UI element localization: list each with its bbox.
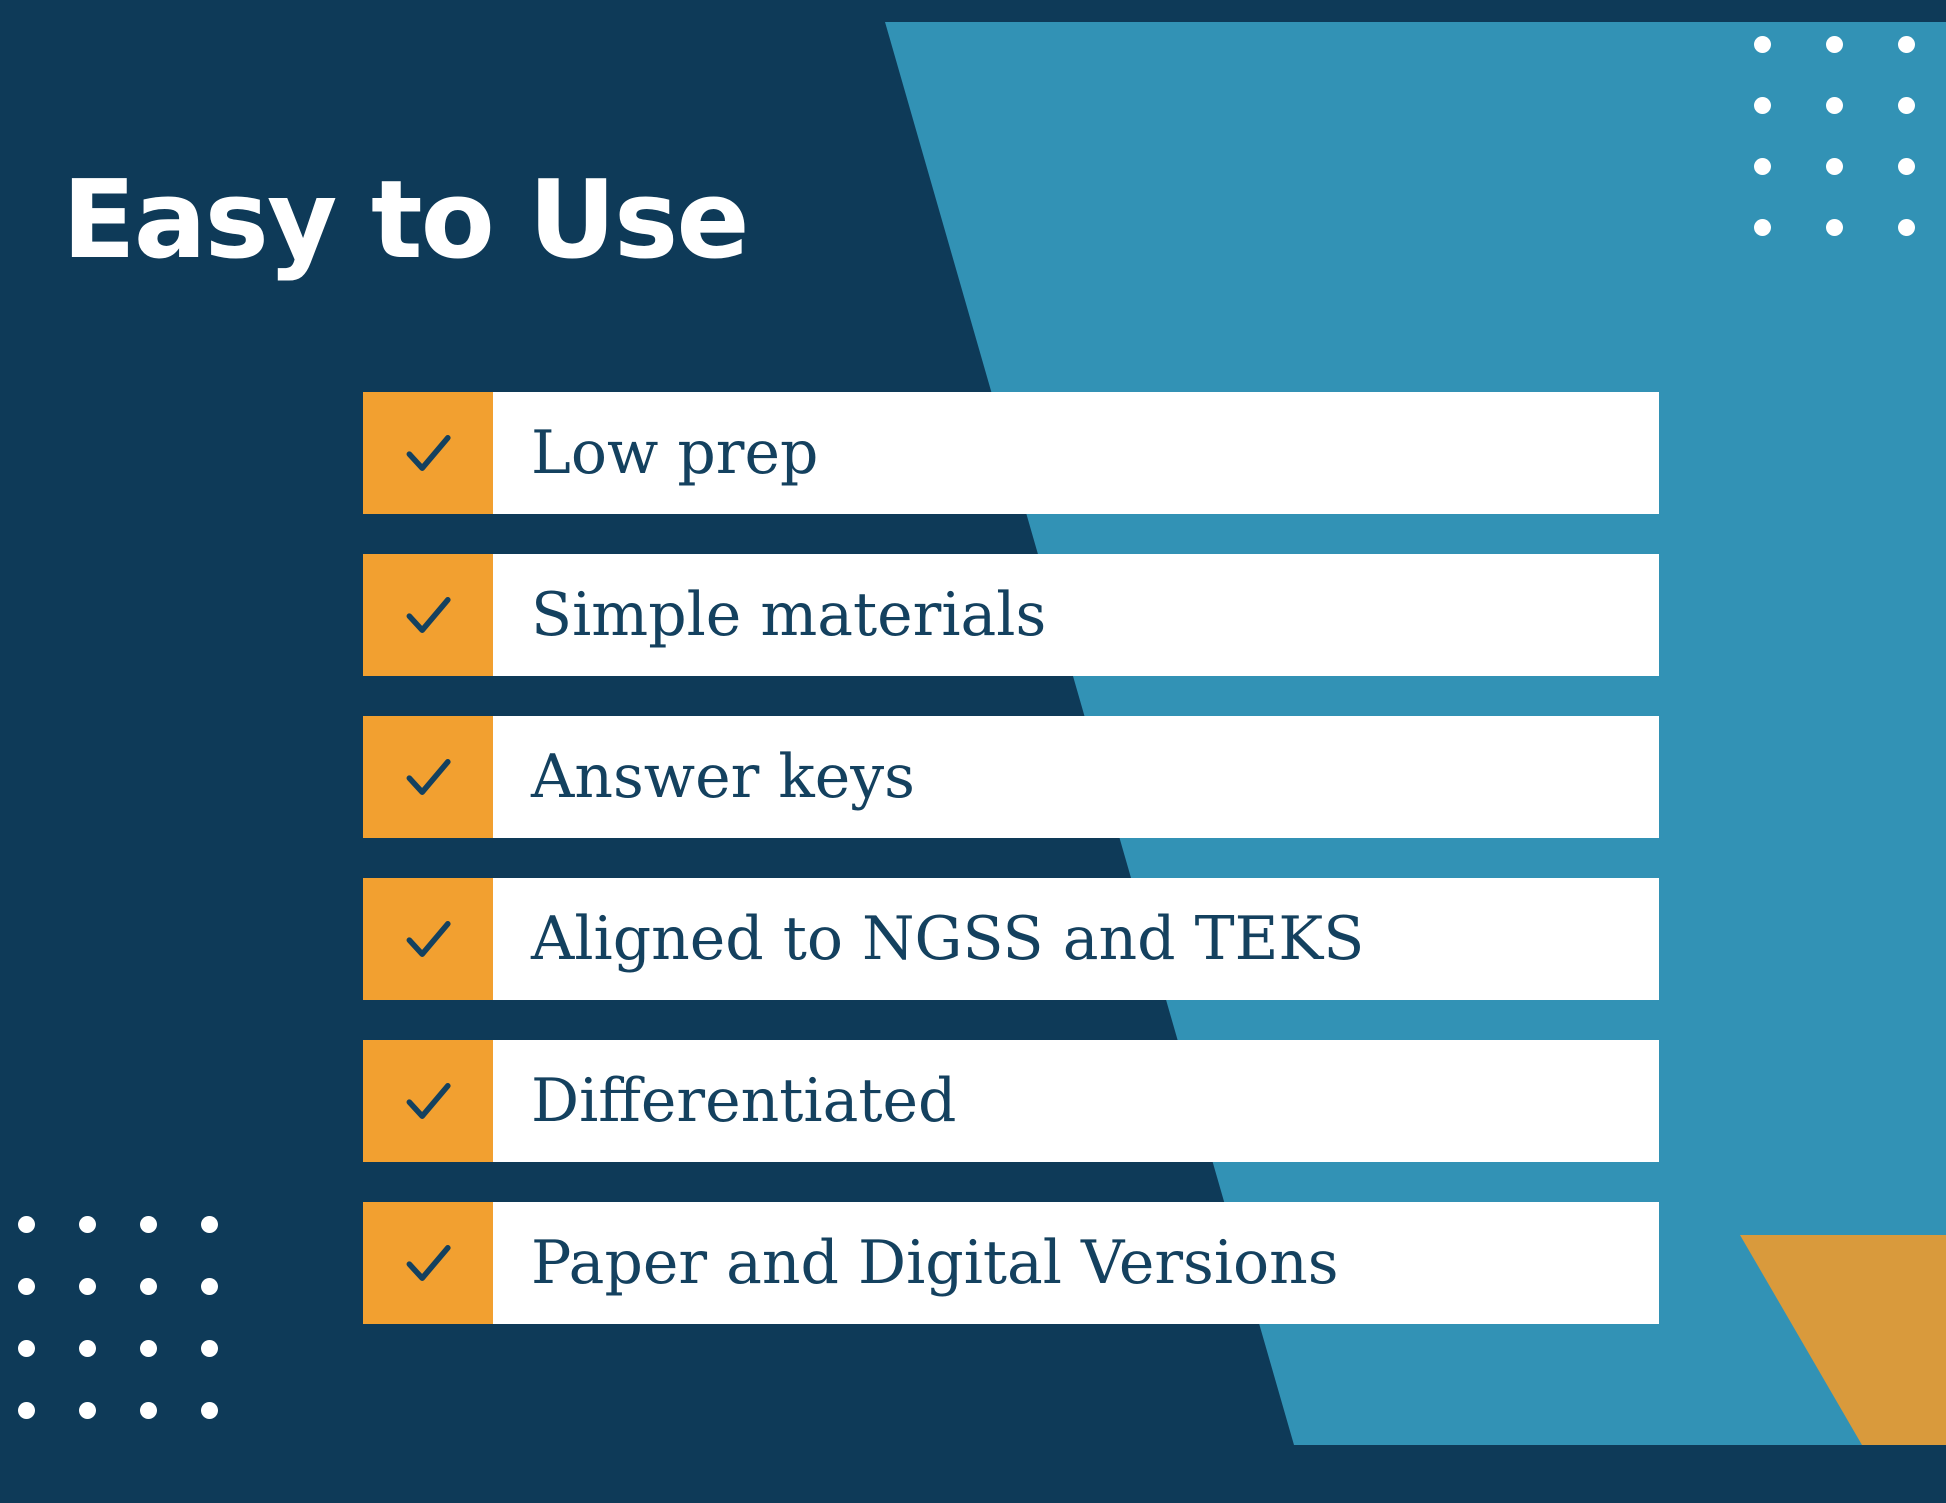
decorative-dot — [201, 1216, 218, 1233]
decorative-dot — [1826, 97, 1843, 114]
check-icon — [400, 425, 456, 481]
decorative-dot — [18, 1216, 35, 1233]
decorative-dot — [140, 1402, 157, 1419]
decorative-dot — [79, 1216, 96, 1233]
decorative-dot — [1826, 158, 1843, 175]
decorative-dot — [1754, 158, 1771, 175]
check-icon — [400, 1235, 456, 1291]
checklist-item: Paper and Digital Versions — [363, 1202, 1659, 1324]
decorative-dot — [1754, 219, 1771, 236]
checkbox-tile — [363, 392, 493, 514]
checkbox-tile — [363, 1040, 493, 1162]
checkbox-tile — [363, 716, 493, 838]
checklist-item: Differentiated — [363, 1040, 1659, 1162]
decorative-dot — [1826, 219, 1843, 236]
decorative-dot — [18, 1402, 35, 1419]
checkbox-tile — [363, 878, 493, 1000]
checkbox-tile — [363, 554, 493, 676]
bottom-band-shape — [0, 1445, 1946, 1503]
decorative-dot — [18, 1340, 35, 1357]
checklist-item-label: Differentiated — [493, 1040, 1659, 1162]
slide-canvas: Easy to Use Low prepSimple materialsAnsw… — [0, 0, 1946, 1503]
checklist-item: Aligned to NGSS and TEKS — [363, 878, 1659, 1000]
checklist-item: Answer keys — [363, 716, 1659, 838]
checkbox-tile — [363, 1202, 493, 1324]
decorative-dot — [1898, 97, 1915, 114]
decorative-dot — [1826, 36, 1843, 53]
decorative-dot — [140, 1278, 157, 1295]
decorative-dot — [201, 1278, 218, 1295]
page-title: Easy to Use — [62, 164, 748, 277]
decorative-dot — [79, 1340, 96, 1357]
checklist-item-label: Low prep — [493, 392, 1659, 514]
checklist-item: Low prep — [363, 392, 1659, 514]
check-icon — [400, 1073, 456, 1129]
decorative-dot — [1898, 219, 1915, 236]
decorative-dot — [201, 1402, 218, 1419]
decorative-dot — [140, 1340, 157, 1357]
decorative-dot — [201, 1340, 218, 1357]
decorative-dot — [18, 1278, 35, 1295]
checklist: Low prepSimple materialsAnswer keysAlign… — [363, 392, 1659, 1324]
decorative-dot — [140, 1216, 157, 1233]
decorative-dot — [79, 1402, 96, 1419]
decorative-dot — [79, 1278, 96, 1295]
checklist-item-label: Simple materials — [493, 554, 1659, 676]
check-icon — [400, 749, 456, 805]
dot-grid-top-right — [1754, 36, 1946, 280]
decorative-dot — [1754, 36, 1771, 53]
checklist-item-label: Answer keys — [493, 716, 1659, 838]
decorative-dot — [1754, 97, 1771, 114]
decorative-dot — [1898, 158, 1915, 175]
checklist-item-label: Paper and Digital Versions — [493, 1202, 1659, 1324]
check-icon — [400, 587, 456, 643]
checklist-item: Simple materials — [363, 554, 1659, 676]
check-icon — [400, 911, 456, 967]
decorative-dot — [1898, 36, 1915, 53]
dot-grid-bottom-left — [18, 1216, 262, 1464]
checklist-item-label: Aligned to NGSS and TEKS — [493, 878, 1659, 1000]
